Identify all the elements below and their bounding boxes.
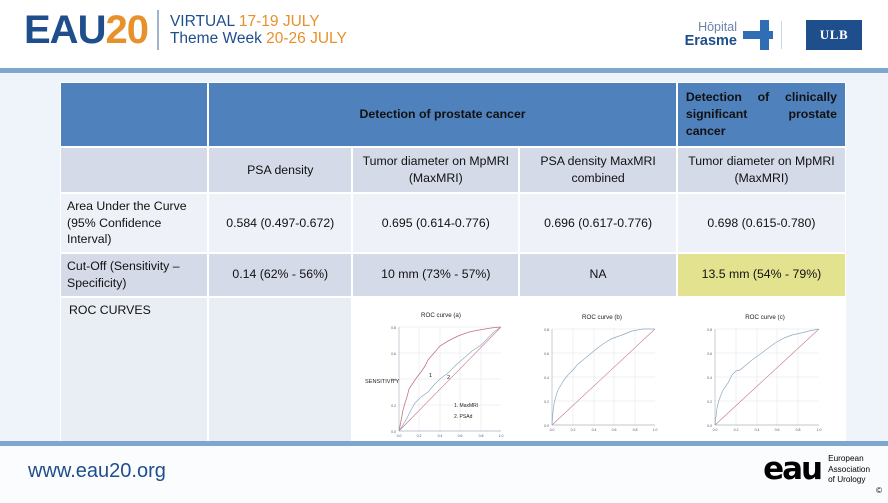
copyright-icon: © — [876, 486, 882, 495]
hopital-erasme-logo: Hōpital Erasme — [685, 20, 782, 50]
roc-b-xtick-1: 0.2 — [571, 428, 576, 432]
roc-b-ytick-0: 0.0 — [544, 424, 549, 428]
eau-logo-mark: eau — [763, 454, 821, 485]
virtual-dates: 17-19 JULY — [239, 13, 320, 30]
slide: EAU20 VIRTUAL 17-19 JULY Theme Week 20-2… — [0, 0, 888, 503]
roc-b-ytick-2: 0.4 — [544, 376, 549, 380]
sub-header-psa-density-maxmri-combined: PSA density MaxMRI combined — [519, 147, 677, 193]
roc-c-ytick-2: 0.4 — [708, 376, 713, 380]
table-group-header-row: Detection of prostate cancer Detection o… — [60, 82, 846, 147]
roc-a-title: ROC curve (a) — [421, 312, 461, 319]
roc-b-xtick-5: 1.0 — [653, 428, 658, 432]
roc-a-legend-2: 2. PSAd — [454, 414, 473, 420]
logo-separator — [781, 21, 782, 49]
roc-a-ytick-0: 0.0 — [391, 430, 396, 434]
website-url[interactable]: www.eau20.org — [28, 460, 166, 483]
table-sub-header-row: PSA density Tumor diameter on MpMRI (Max… — [60, 147, 846, 193]
roc-c-xtick-3: 0.6 — [775, 428, 780, 432]
roc-c-xtick-2: 0.4 — [755, 428, 760, 432]
logo-year-text: 20 — [105, 8, 148, 52]
roc-a-xtick-4: 0.8 — [478, 434, 483, 438]
theme-week-label: Theme Week — [170, 30, 262, 47]
roc-b-ytick-1: 0.2 — [544, 400, 549, 404]
sub-header-blank — [60, 147, 208, 193]
virtual-label: VIRTUAL — [170, 13, 235, 30]
logo-divider — [157, 10, 159, 50]
eau-org-name: European Association of Urology — [828, 454, 870, 486]
event-line-1: VIRTUAL 17-19 JULY — [170, 13, 347, 30]
roc-c-xtick-5: 1.0 — [817, 428, 822, 432]
roc-c-xtick-0: 0.0 — [713, 428, 718, 432]
roc-a-xtick-5: 1.0 — [498, 434, 503, 438]
roc-c-ytick-4: 0.8 — [708, 328, 713, 332]
roc-a-xtick-2: 0.4 — [437, 434, 442, 438]
roc-c-xtick-1: 0.2 — [734, 428, 739, 432]
roc-a-ytick-1: 0.2 — [391, 404, 396, 408]
hopital-erasme-text: Hōpital Erasme — [685, 21, 737, 49]
hospital-cross-icon — [743, 20, 773, 50]
sub-header-tumor-diameter-mpmri: Tumor diameter on MpMRI (MaxMRI) — [352, 147, 519, 193]
roc-b-xtick-3: 0.6 — [612, 428, 617, 432]
roc-a-ylabel: SENSITIVITY — [365, 379, 399, 385]
ulb-logo: ULB — [806, 20, 862, 50]
roc-a-xtick-1: 0.2 — [416, 434, 421, 438]
roc-a-ytick-3: 0.6 — [391, 352, 396, 356]
roc-c-title: ROC curve (c) — [746, 314, 786, 321]
group-header-detection-clinically-significant: Detection of clinically significant pros… — [677, 82, 846, 147]
sub-header-psa-density: PSA density — [208, 147, 352, 193]
org-line-2: Association — [828, 465, 870, 476]
group-header-blank — [60, 82, 208, 147]
slide-header: EAU20 VIRTUAL 17-19 JULY Theme Week 20-2… — [0, 0, 888, 68]
cutoff-tumor-diameter: 10 mm (73% - 57%) — [352, 253, 519, 297]
eau-org-logo: eau European Association of Urology — [763, 454, 870, 486]
eau20-wordmark: EAU20 — [24, 10, 148, 50]
roc-b-ytick-4: 0.8 — [544, 328, 549, 332]
theme-week-dates: 20-26 JULY — [266, 30, 347, 47]
auc-psa-density: 0.584 (0.497-0.672) — [208, 193, 352, 253]
hopital-line-2: Erasme — [685, 34, 737, 49]
group-header-detection-prostate-cancer: Detection of prostate cancer — [208, 82, 677, 147]
slide-footer: www.eau20.org eau European Association o… — [0, 446, 888, 503]
roc-b-xtick-0: 0.0 — [550, 428, 555, 432]
auc-tumor-diameter-csc: 0.698 (0.615-0.780) — [677, 193, 846, 253]
roc-b-ytick-3: 0.6 — [544, 352, 549, 356]
table-row-cutoff: Cut-Off (Sensitivity – Specificity) 0.14… — [60, 253, 846, 297]
roc-a-legend-1: 1. MaxMRI — [454, 403, 478, 409]
roc-c-xtick-4: 0.8 — [796, 428, 801, 432]
roc-c-ytick-3: 0.6 — [708, 352, 713, 356]
logo-eau-text: EAU — [24, 8, 105, 52]
event-dates-block: VIRTUAL 17-19 JULY Theme Week 20-26 JULY — [170, 13, 347, 48]
auc-combined: 0.696 (0.617-0.776) — [519, 193, 677, 253]
results-table: Detection of prostate cancer Detection o… — [60, 82, 846, 485]
auc-tumor-diameter: 0.695 (0.614-0.776) — [352, 193, 519, 253]
roc-b-title: ROC curve (b) — [582, 314, 622, 321]
roc-c-ytick-0: 0.0 — [708, 424, 713, 428]
roc-a-marker-1: 1 — [429, 373, 432, 379]
roc-a-marker-2: 2 — [447, 375, 450, 381]
cutoff-combined: NA — [519, 253, 677, 297]
hopital-line-1: Hōpital — [685, 21, 737, 34]
org-line-3: of Urology — [828, 475, 870, 486]
roc-c-ytick-1: 0.2 — [708, 400, 713, 404]
roc-a-xtick-0: 0.0 — [396, 434, 401, 438]
roc-b-xtick-4: 0.8 — [633, 428, 638, 432]
roc-a-xtick-3: 0.6 — [457, 434, 462, 438]
sub-header-tumor-diameter-mpmri-csc: Tumor diameter on MpMRI (MaxMRI) — [677, 147, 846, 193]
row-label-auc: Area Under the Curve (95% Confidence Int… — [60, 193, 208, 253]
row-label-cutoff: Cut-Off (Sensitivity – Specificity) — [60, 253, 208, 297]
roc-b-xtick-2: 0.4 — [592, 428, 597, 432]
cutoff-tumor-diameter-csc-highlighted: 13.5 mm (54% - 79%) — [677, 253, 846, 297]
event-line-2: Theme Week 20-26 JULY — [170, 30, 347, 47]
eau20-logo: EAU20 VIRTUAL 17-19 JULY Theme Week 20-2… — [24, 10, 347, 50]
cutoff-psa-density: 0.14 (62% - 56%) — [208, 253, 352, 297]
table-row-auc: Area Under the Curve (95% Confidence Int… — [60, 193, 846, 253]
org-line-1: European — [828, 454, 870, 465]
roc-a-ytick-4: 0.8 — [391, 326, 396, 330]
